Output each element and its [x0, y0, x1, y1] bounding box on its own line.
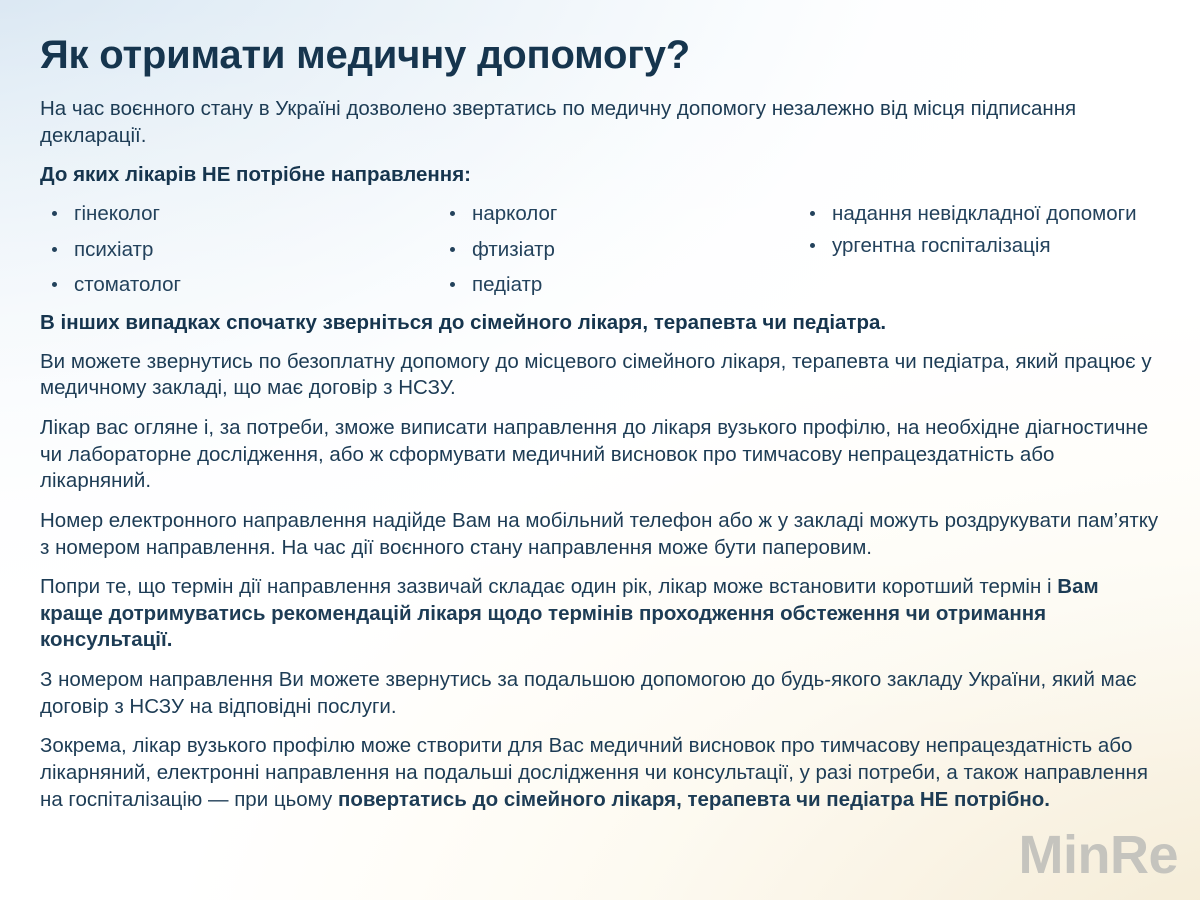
- bullet-list-2: нарколог фтизіатр педіатр: [446, 199, 806, 300]
- page-title: Як отримати медичну допомогу?: [40, 34, 1162, 76]
- list-item-label: ургентна госпіталізація: [832, 234, 1051, 257]
- bullet-column-2: нарколог фтизіатр педіатр: [446, 199, 806, 306]
- bullet-dot-icon: [810, 211, 815, 216]
- list-item-label: фтизіатр: [472, 238, 555, 261]
- list-item-label: нарколог: [472, 202, 557, 225]
- list-item-label: психіатр: [74, 238, 153, 261]
- list-item: педіатр: [446, 270, 806, 300]
- bullet-dot-icon: [450, 282, 455, 287]
- bullets-heading: До яких лікарів НЕ потрібне направлення:: [40, 162, 1162, 189]
- bullet-column-3: надання невідкладної допомоги ургентна г…: [806, 199, 1200, 262]
- rule-line: В інших випадках спочатку зверніться до …: [40, 310, 1162, 337]
- list-item: гінеколог: [48, 199, 446, 229]
- paragraph-validity-lead: Попри те, що термін дії направлення зазв…: [40, 575, 1057, 598]
- paragraph-specialist-emphasis: повертатись до сімейного лікаря, терапев…: [338, 788, 1050, 811]
- paragraph-specialist: Зокрема, лікар вузького профілю може ств…: [40, 733, 1162, 813]
- paragraph-free-care: Ви можете звернутись по безоплатну допом…: [40, 349, 1162, 402]
- list-item: нарколог: [446, 199, 806, 229]
- bullet-list-1: гінеколог психіатр стоматолог: [48, 199, 446, 300]
- bullet-dot-icon: [52, 211, 57, 216]
- list-item-label: стоматолог: [74, 273, 181, 296]
- slide-canvas: Як отримати медичну допомогу? На час воє…: [0, 0, 1200, 900]
- list-item: стоматолог: [48, 270, 446, 300]
- bullet-column-1: гінеколог психіатр стоматолог: [38, 199, 446, 306]
- lead-paragraph: На час воєнного стану в Україні дозволен…: [40, 96, 1162, 149]
- list-item-label: надання невідкладної допомоги: [832, 202, 1137, 225]
- bullet-dot-icon: [52, 247, 57, 252]
- bullet-dot-icon: [52, 282, 57, 287]
- bullet-dot-icon: [450, 211, 455, 216]
- list-item: психіатр: [48, 235, 446, 265]
- watermark-logo: MinRe: [1019, 828, 1179, 882]
- paragraph-referral-number: Номер електронного направлення надійде В…: [40, 508, 1162, 561]
- bullet-list-3: надання невідкладної допомоги ургентна г…: [806, 199, 1200, 260]
- list-item-label: педіатр: [472, 273, 542, 296]
- list-item-label: гінеколог: [74, 202, 160, 225]
- list-item: надання невідкладної допомоги: [806, 199, 1200, 229]
- bullet-dot-icon: [810, 243, 815, 248]
- paragraph-validity: Попри те, що термін дії направлення зазв…: [40, 574, 1162, 654]
- list-item: ургентна госпіталізація: [806, 231, 1200, 261]
- doctor-bullet-block: гінеколог психіатр стоматолог: [38, 199, 1162, 306]
- paragraph-any-facility: З номером направлення Ви можете звернути…: [40, 667, 1162, 720]
- list-item: фтизіатр: [446, 235, 806, 265]
- slide-content: Як отримати медичну допомогу? На час воє…: [0, 0, 1200, 813]
- bullet-dot-icon: [450, 247, 455, 252]
- paragraph-examination: Лікар вас огляне і, за потреби, зможе ви…: [40, 415, 1162, 495]
